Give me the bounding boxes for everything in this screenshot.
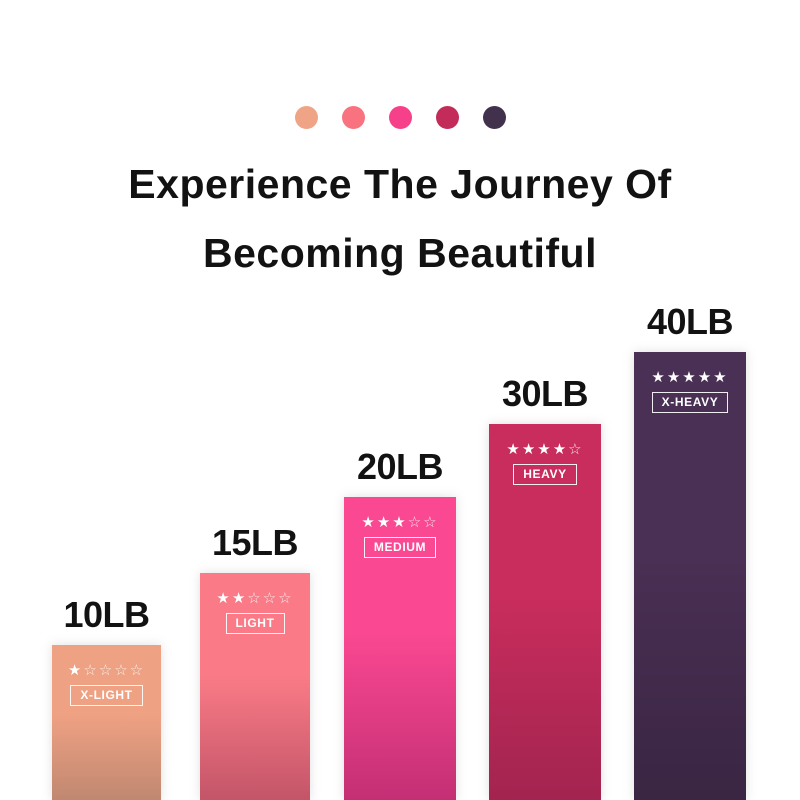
bar-fill <box>634 352 746 800</box>
bar-tag-label: X-HEAVY <box>652 392 729 413</box>
bar-badge: ★☆☆☆☆X-LIGHT <box>52 663 161 706</box>
bar-weight-label: 30LB <box>502 373 588 415</box>
star-empty-icon: ☆ <box>99 662 114 679</box>
star-filled-icon: ★ <box>682 369 697 386</box>
bar-weight-label: 15LB <box>212 522 298 564</box>
star-filled-icon: ★ <box>553 441 568 458</box>
star-filled-icon: ★ <box>506 441 521 458</box>
bar-body[interactable]: ★★★★★X-HEAVY <box>634 352 746 800</box>
bar-tag-label: HEAVY <box>513 464 576 485</box>
star-filled-icon: ★ <box>377 514 392 531</box>
star-filled-icon: ★ <box>667 369 682 386</box>
star-rating: ★★★★☆ <box>506 442 583 457</box>
star-empty-icon: ☆ <box>568 441 583 458</box>
bar-tag-label: MEDIUM <box>364 537 436 558</box>
star-empty-icon: ☆ <box>83 662 98 679</box>
bar-body[interactable]: ★☆☆☆☆X-LIGHT <box>52 645 161 800</box>
infographic-canvas: Experience The Journey Of Becoming Beaut… <box>0 0 800 800</box>
star-filled-icon: ★ <box>232 590 247 607</box>
bar-badge: ★★☆☆☆LIGHT <box>200 591 310 634</box>
bar-tag-label: X-LIGHT <box>70 685 142 706</box>
star-empty-icon: ☆ <box>114 662 129 679</box>
bar-badge: ★★★★☆HEAVY <box>489 442 601 485</box>
bar-badge: ★★★★★X-HEAVY <box>634 370 746 413</box>
star-filled-icon: ★ <box>361 514 376 531</box>
star-filled-icon: ★ <box>68 662 83 679</box>
star-filled-icon: ★ <box>537 441 552 458</box>
star-empty-icon: ☆ <box>247 590 262 607</box>
bar-weight-label: 40LB <box>647 301 733 343</box>
star-filled-icon: ★ <box>651 369 666 386</box>
bar-column-40lb[interactable]: 40LB★★★★★X-HEAVY <box>634 352 746 800</box>
star-empty-icon: ☆ <box>263 590 278 607</box>
bar-weight-label: 10LB <box>63 594 149 636</box>
star-filled-icon: ★ <box>713 369 728 386</box>
star-empty-icon: ☆ <box>423 514 438 531</box>
star-rating: ★★☆☆☆ <box>216 591 293 606</box>
bar-badge: ★★★☆☆MEDIUM <box>344 515 456 558</box>
star-rating: ★☆☆☆☆ <box>68 663 145 678</box>
star-empty-icon: ☆ <box>130 662 145 679</box>
bar-column-10lb[interactable]: 10LB★☆☆☆☆X-LIGHT <box>52 645 161 800</box>
star-filled-icon: ★ <box>698 369 713 386</box>
star-filled-icon: ★ <box>216 590 231 607</box>
bar-tag-label: LIGHT <box>226 613 285 634</box>
star-rating: ★★★☆☆ <box>361 515 438 530</box>
star-empty-icon: ☆ <box>408 514 423 531</box>
bar-body[interactable]: ★★☆☆☆LIGHT <box>200 573 310 800</box>
bar-body[interactable]: ★★★☆☆MEDIUM <box>344 497 456 800</box>
bar-column-20lb[interactable]: 20LB★★★☆☆MEDIUM <box>344 497 456 800</box>
star-empty-icon: ☆ <box>278 590 293 607</box>
bar-column-15lb[interactable]: 15LB★★☆☆☆LIGHT <box>200 573 310 800</box>
bar-weight-label: 20LB <box>357 446 443 488</box>
bar-column-30lb[interactable]: 30LB★★★★☆HEAVY <box>489 424 601 800</box>
resistance-bar-chart: 10LB★☆☆☆☆X-LIGHT15LB★★☆☆☆LIGHT20LB★★★☆☆M… <box>0 0 800 800</box>
bar-body[interactable]: ★★★★☆HEAVY <box>489 424 601 800</box>
star-filled-icon: ★ <box>522 441 537 458</box>
star-rating: ★★★★★ <box>651 370 728 385</box>
star-filled-icon: ★ <box>392 514 407 531</box>
